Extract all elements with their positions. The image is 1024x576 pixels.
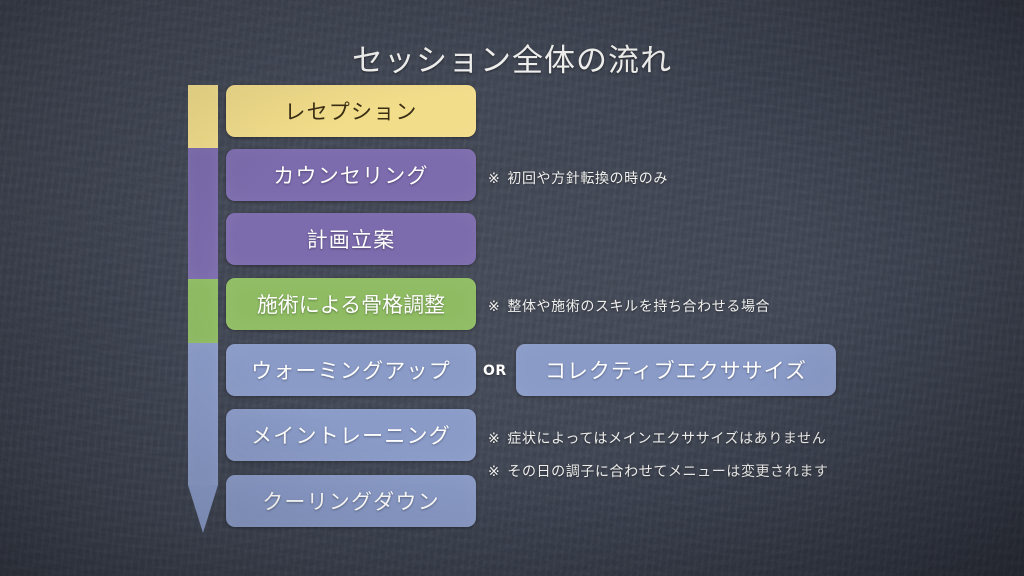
step-box-warming-up[interactable]: ウォーミングアップ <box>226 344 476 396</box>
note-text: 初回や方針転換の時のみ <box>507 171 668 187</box>
arrow-tip <box>188 485 218 533</box>
note-text: 整体や施術のスキルを持ち合わせる場合 <box>507 299 770 315</box>
step-box-counseling[interactable]: カウンセリング <box>226 149 476 201</box>
note-text: その日の調子に合わせてメニューは変更されます <box>507 464 828 480</box>
note-text: 症状によってはメインエクササイズはありません <box>507 431 826 447</box>
slide-canvas: セッション全体の流れ レセプション カウンセリング 計画立案 施術による骨格調整… <box>0 0 1024 576</box>
step-box-skeletal-adjustment[interactable]: 施術による骨格調整 <box>226 278 476 330</box>
note-main-exercise: ※症状によってはメインエクササイズはありません <box>488 428 826 448</box>
step-label: レセプション <box>284 96 417 126</box>
vignette-overlay <box>0 0 1024 576</box>
page-title: セッション全体の流れ <box>0 35 1024 80</box>
arrow-segment-planning <box>188 148 218 279</box>
flow-progress-arrow <box>188 85 218 535</box>
step-label: クーリングダウン <box>262 486 440 516</box>
step-box-collective-exercise[interactable]: コレクティブエクササイズ <box>516 344 836 396</box>
asterisk-icon: ※ <box>488 299 500 315</box>
note-menu-change: ※その日の調子に合わせてメニューは変更されます <box>488 461 829 481</box>
note-counseling: ※初回や方針転換の時のみ <box>488 168 668 188</box>
step-label: メイントレーニング <box>251 420 451 450</box>
arrow-segment-reception <box>188 85 218 148</box>
step-label: カウンセリング <box>273 160 428 190</box>
step-box-reception[interactable]: レセプション <box>226 85 476 137</box>
asterisk-icon: ※ <box>488 464 500 480</box>
step-label: 施術による骨格調整 <box>257 289 445 319</box>
step-box-planning[interactable]: 計画立案 <box>226 213 476 265</box>
asterisk-icon: ※ <box>488 171 500 187</box>
chalkboard-texture-overlay <box>0 0 1024 576</box>
step-label: 計画立案 <box>307 224 396 254</box>
or-connector-label: OR <box>483 363 507 379</box>
step-box-main-training[interactable]: メイントレーニング <box>226 409 476 461</box>
step-box-cooling-down[interactable]: クーリングダウン <box>226 475 476 527</box>
step-label: コレクティブエクササイズ <box>545 355 807 385</box>
arrow-segment-adjustment <box>188 279 218 343</box>
asterisk-icon: ※ <box>488 431 500 447</box>
arrow-segment-training <box>188 343 218 485</box>
step-label: ウォーミングアップ <box>251 355 451 385</box>
note-skeletal-adjustment: ※整体や施術のスキルを持ち合わせる場合 <box>488 296 770 316</box>
